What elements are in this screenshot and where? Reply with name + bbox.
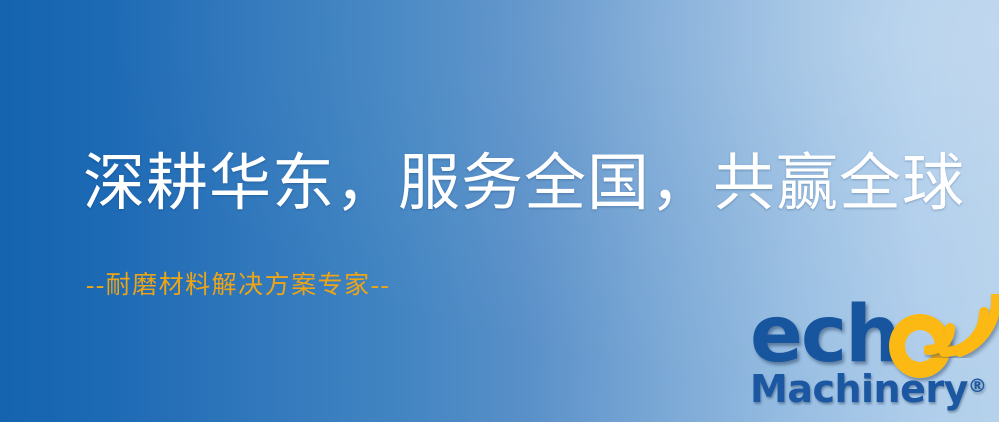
registered-trademark-icon: ® bbox=[968, 375, 987, 397]
signal-waves-icon bbox=[924, 294, 999, 358]
logo-subtext: Machinery® bbox=[750, 370, 987, 408]
hero-banner: 深耕华东，服务全国，共赢全球 --耐磨材料解决方案专家-- ech Machin… bbox=[0, 0, 999, 422]
page-title: 深耕华东，服务全国，共赢全球 bbox=[83, 152, 965, 217]
logo-text-ech: ech bbox=[750, 296, 899, 374]
logo-subtext-label: Machinery bbox=[750, 367, 968, 411]
page-subtitle: --耐磨材料解决方案专家-- bbox=[86, 265, 390, 301]
company-logo[interactable]: ech Machinery® bbox=[748, 300, 999, 422]
